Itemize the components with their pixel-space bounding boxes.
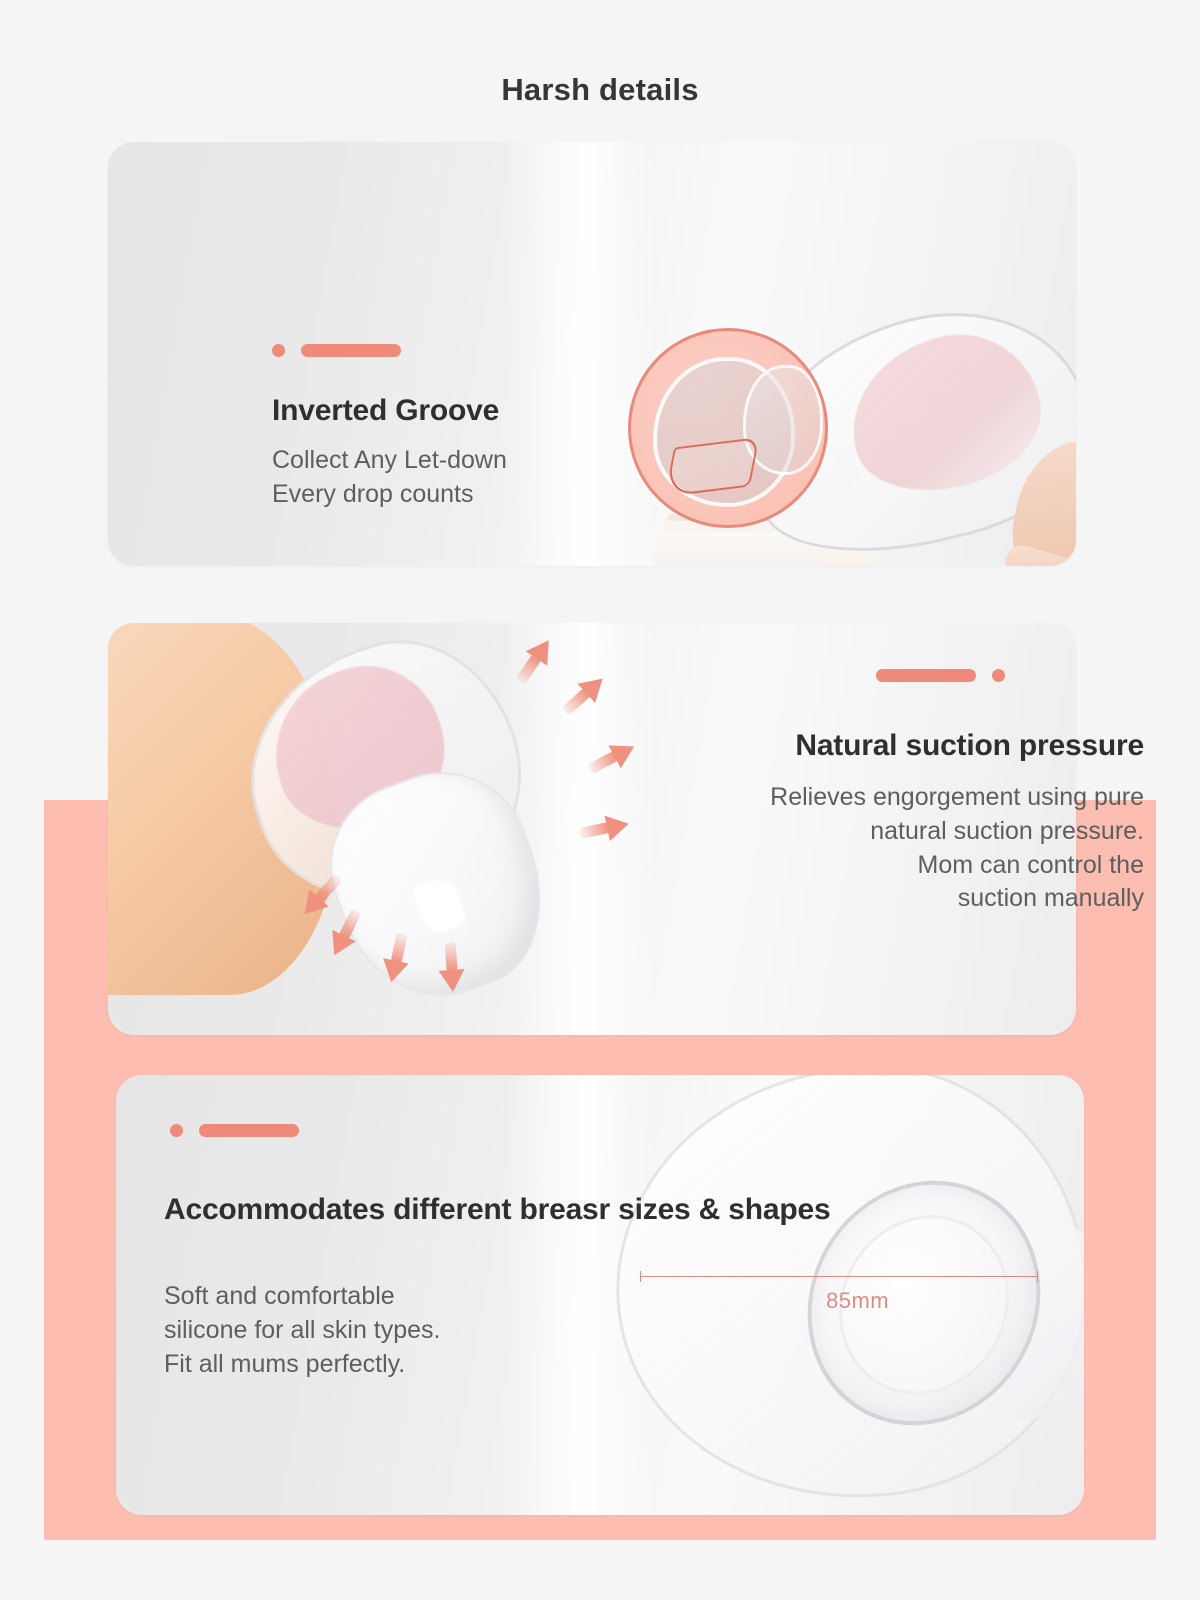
feature-card-inverted-groove: Inverted Groove Collect Any Let-down Eve…: [108, 142, 1076, 566]
card-2-headline: Natural suction pressure: [795, 727, 1144, 765]
infographic-page: Harsh details: [0, 0, 1200, 1600]
card-3-headline-line: breasr sizes & shapes: [519, 1193, 830, 1226]
card-3-body-line: Fit all mums perfectly.: [164, 1348, 441, 1382]
card-2-marker: [876, 669, 1005, 682]
card-3-headline: Accommodates different breasr sizes & sh…: [164, 1191, 830, 1229]
card-1-body: Collect Any Let-down Every drop counts: [272, 444, 507, 512]
card-2-body-line: suction manually: [770, 882, 1144, 916]
card-2-body-line: natural suction pressure.: [770, 815, 1144, 849]
marker-dot-icon: [170, 1124, 183, 1137]
marker-bar-icon: [876, 669, 976, 682]
dimension-label: 85mm: [826, 1288, 889, 1314]
marker-dot-icon: [272, 344, 285, 357]
page-title: Harsh details: [0, 72, 1200, 108]
card-3-marker: [170, 1124, 299, 1137]
card-3-body-line: silicone for all skin types.: [164, 1314, 441, 1348]
card-3-body: Soft and comfortable silicone for all sk…: [164, 1280, 441, 1381]
card-2-body: Relieves engorgement using pure natural …: [770, 781, 1144, 916]
card-1-body-line: Collect Any Let-down: [272, 444, 507, 478]
dimension-line: [640, 1276, 1038, 1277]
card-2-body-line: Relieves engorgement using pure: [770, 781, 1144, 815]
marker-bar-icon: [199, 1124, 299, 1137]
card-1-artwork: [108, 142, 1076, 566]
marker-dot-icon: [992, 669, 1005, 682]
groove-zoom-callout-icon: [628, 328, 828, 528]
card-3-headline-line: Accommodates different: [164, 1193, 511, 1226]
marker-bar-icon: [301, 344, 401, 357]
card-1-headline: Inverted Groove: [272, 392, 499, 430]
light-streak: [506, 142, 656, 566]
card-2-body-line: Mom can control the: [770, 849, 1144, 883]
card-3-body-line: Soft and comfortable: [164, 1280, 441, 1314]
card-1-marker: [272, 344, 401, 357]
card-1-body-line: Every drop counts: [272, 478, 507, 512]
